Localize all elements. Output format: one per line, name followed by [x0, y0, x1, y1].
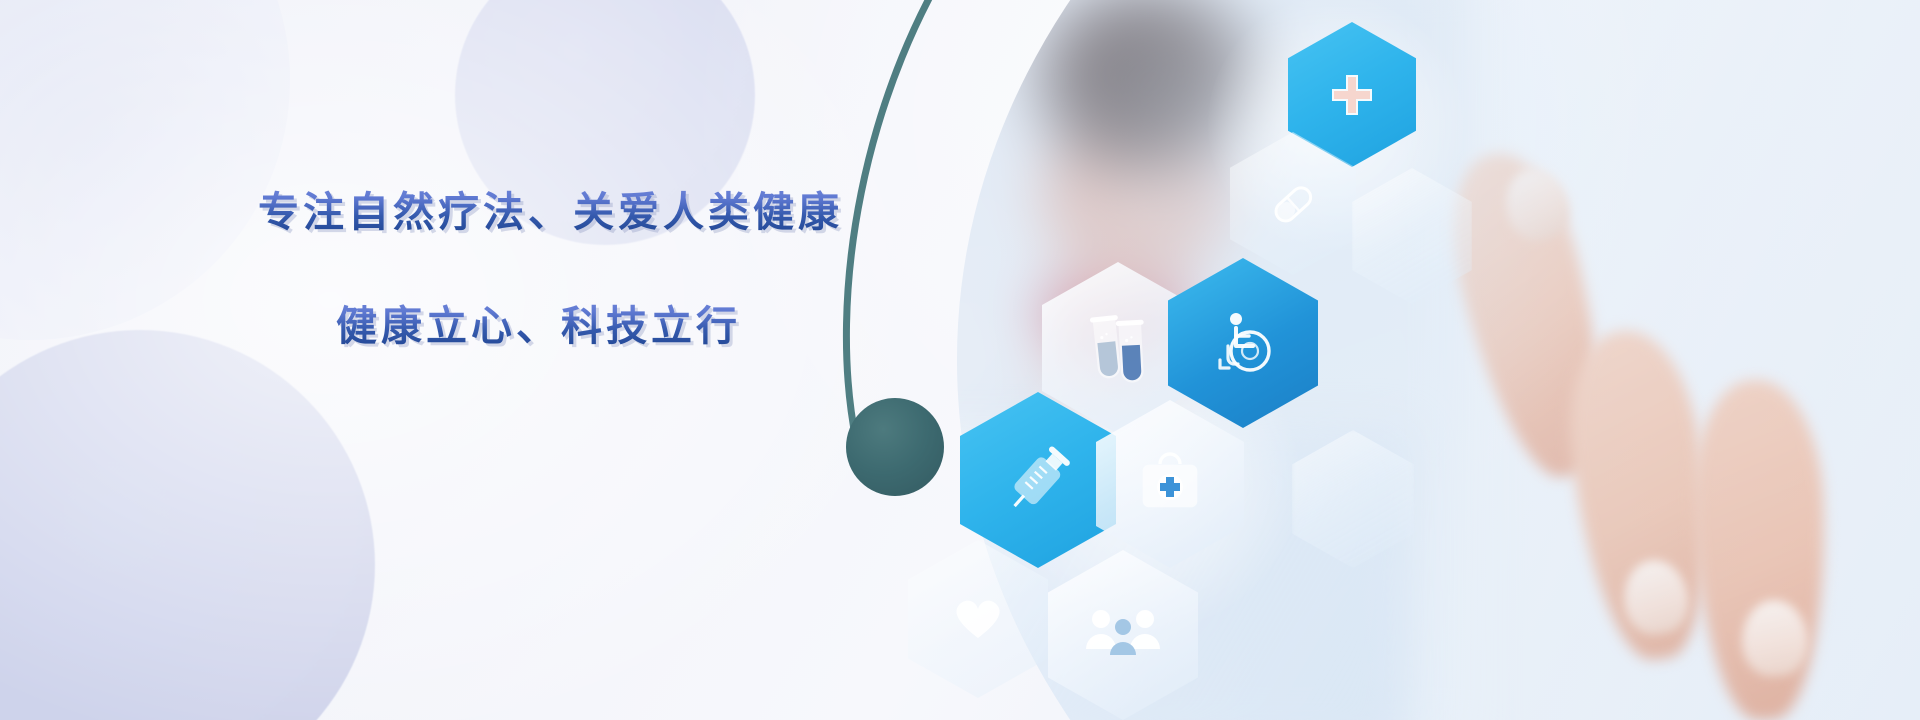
headline-line-1: 专注自然疗法、关爱人类健康 [258, 186, 898, 238]
hex-tile-decorative [1352, 168, 1472, 304]
family-group-icon [1084, 605, 1162, 665]
hex-tile-family-group[interactable] [1048, 550, 1198, 720]
hex-tile-decorative [1292, 430, 1414, 568]
hex-tile-heart[interactable] [908, 540, 1048, 698]
first-aid-kit-icon [1134, 448, 1206, 520]
hexagon-icon-cluster [900, 0, 1540, 720]
capsule-pill-icon [1263, 174, 1323, 234]
heart-icon [947, 588, 1009, 650]
hero-banner: 专注自然疗法、关爱人类健康 健康立心、科技立行 [0, 0, 1920, 720]
test-tubes-icon [1081, 308, 1155, 388]
background-blob-bottom [0, 330, 375, 720]
syringe-icon [995, 437, 1081, 523]
medical-cross-icon [1324, 67, 1380, 123]
wheelchair-icon [1206, 306, 1280, 380]
hex-tile-wheelchair[interactable] [1168, 258, 1318, 428]
background-blob-edge [0, 0, 290, 340]
headline-block: 专注自然疗法、关爱人类健康 健康立心、科技立行 [258, 186, 898, 352]
headline-line-2: 健康立心、科技立行 [336, 300, 898, 352]
